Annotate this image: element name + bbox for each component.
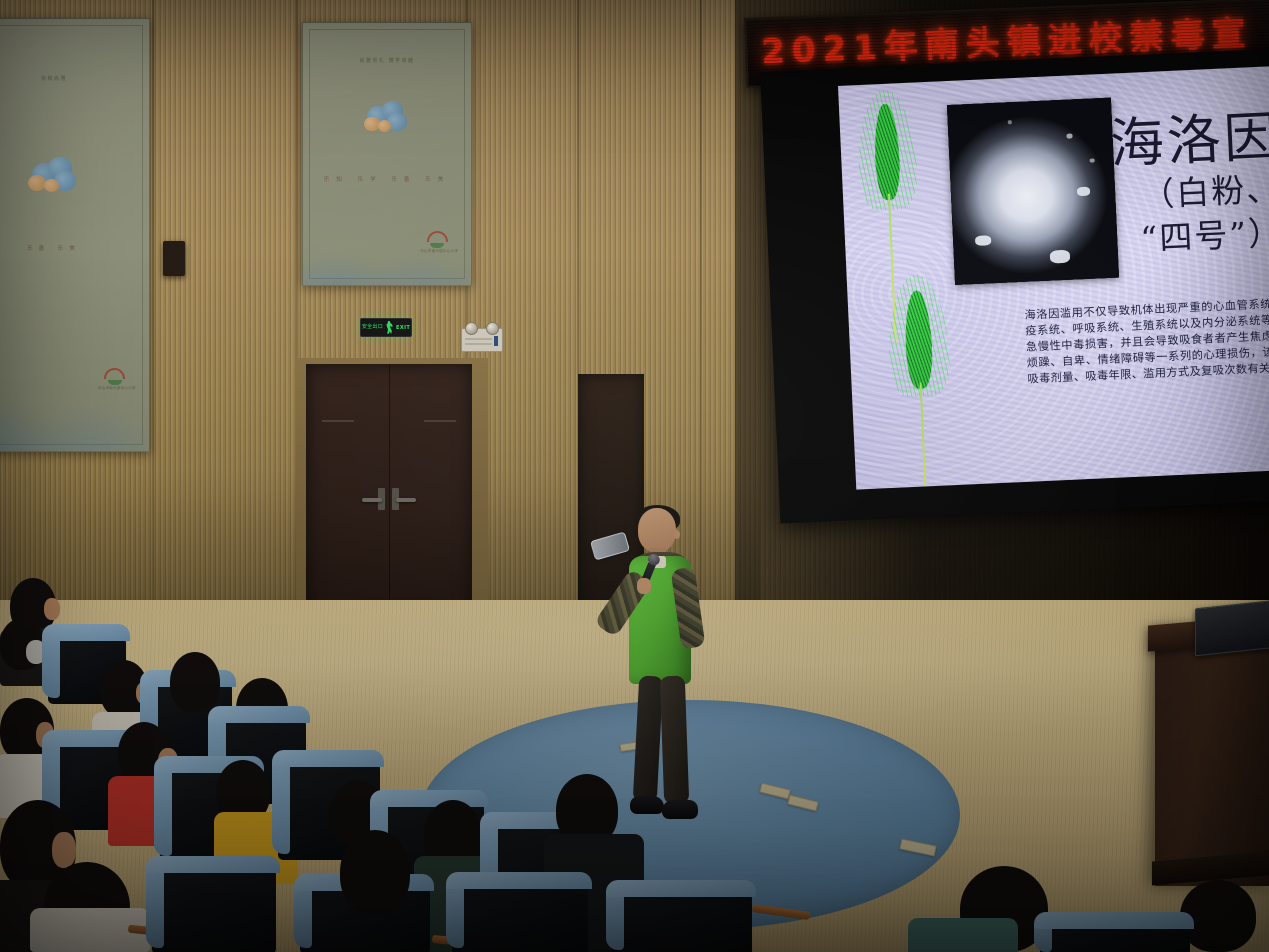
- auditorium-scene: 崇和尚雅 乐善 乐美 中山市南头镇中心小学 尚雅崇礼 博学卓越 乐知 乐学 乐善…: [0, 0, 1269, 952]
- presenter-hand: [637, 578, 651, 594]
- emergency-light: [461, 328, 503, 352]
- slide-body-text: 海洛因滥用不仅导致机体出现严重的心血管系统、神经系统、免疫系统、呼吸系统、生殖系…: [1024, 293, 1269, 388]
- presenter-leg-left: [633, 675, 664, 802]
- door-handle-right[interactable]: [396, 498, 416, 502]
- door-center-split: [389, 364, 390, 626]
- poster-wave-decor: [0, 356, 149, 451]
- wheat-stalk-icon: [885, 273, 957, 488]
- presenter-head: [638, 508, 676, 552]
- poster-right-top-text: 尚雅崇礼 博学卓越: [303, 57, 471, 64]
- poster-left-top-text: 崇和尚雅: [0, 75, 149, 82]
- projection-screen: 海洛因 （白粉、 “四号”） 海洛因滥用不仅导致机体出现严重的心血管系统、神经系…: [838, 66, 1269, 489]
- heroin-powder-photo: [947, 98, 1119, 285]
- door-panel-line: [424, 420, 456, 422]
- lectern[interactable]: [1155, 628, 1269, 886]
- audience-face: [52, 832, 76, 868]
- exit-sign: 安全出口 EXIT: [360, 318, 412, 337]
- poster-wave-decor: [303, 227, 471, 285]
- presenter-shoe-left: [630, 796, 664, 814]
- emergency-light-indicator: [494, 336, 498, 346]
- poster-left-bottom-text: 乐善 乐美: [0, 244, 149, 252]
- wall-poster-right: 尚雅崇礼 博学卓越 乐知 乐学 乐善 乐美 中山市南头镇中心小学: [302, 22, 472, 286]
- emergency-light-heads-icon: [465, 322, 499, 335]
- wall-poster-left: 崇和尚雅 乐善 乐美 中山市南头镇中心小学: [0, 18, 150, 452]
- audience-face: [44, 598, 60, 620]
- presenter-shoe-right: [662, 800, 698, 819]
- auditorium-seat[interactable]: [612, 886, 752, 952]
- presenter-leg-right: [660, 676, 689, 805]
- auditorium-seat[interactable]: [1040, 918, 1190, 952]
- emergency-light-label-bar: [465, 343, 492, 345]
- audience-head: [340, 830, 410, 914]
- presenter-ear: [674, 530, 680, 539]
- emergency-light-label-bar: [465, 338, 492, 340]
- exit-sign-chinese: 安全出口: [362, 325, 383, 330]
- slide-subtitle-line2: “四号”）: [1139, 206, 1269, 260]
- door-panel-line: [322, 420, 354, 422]
- audience-body-teal: [908, 918, 1018, 952]
- door-handle-left[interactable]: [362, 498, 382, 502]
- auditorium-seat[interactable]: [452, 878, 588, 952]
- running-man-icon: [385, 321, 394, 334]
- auditorium-seat[interactable]: [152, 862, 276, 952]
- cloud-motif-icon: [28, 155, 80, 195]
- audience-head: [170, 652, 220, 712]
- double-door[interactable]: [306, 364, 472, 626]
- poster-right-bottom-text: 乐知 乐学 乐善 乐美: [303, 175, 471, 183]
- laptop[interactable]: [1195, 600, 1269, 657]
- exit-sign-english: EXIT: [396, 325, 410, 331]
- speaker-presenter: [600, 508, 728, 838]
- cloud-motif-icon: [364, 99, 410, 135]
- wall-speaker-icon: [163, 241, 185, 276]
